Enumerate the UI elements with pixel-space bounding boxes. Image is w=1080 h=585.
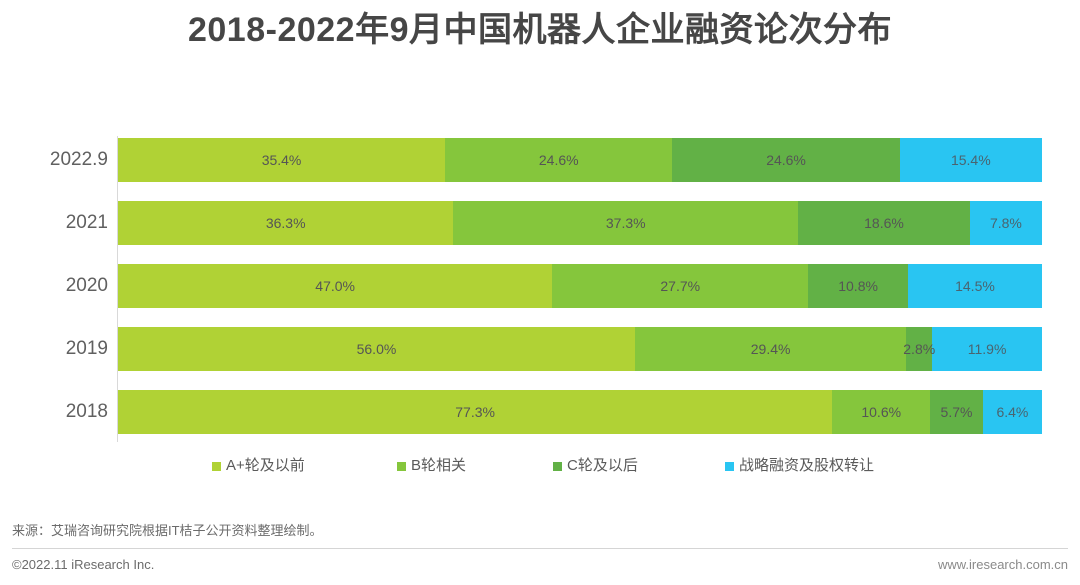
bar-row: 201956.0%29.4%2.8%11.9%	[0, 327, 1080, 371]
bar-segment-value-label: 24.6%	[539, 152, 579, 168]
bar-segment-value-label: 10.8%	[838, 278, 878, 294]
legend-item[interactable]: 战略融资及股权转让	[725, 452, 874, 480]
legend-item[interactable]: A+轮及以前	[212, 452, 305, 480]
bar-segment-value-label: 10.6%	[861, 404, 901, 420]
chart-title-container: 2018-2022年9月中国机器人企业融资论次分布	[0, 8, 1080, 52]
page-title: 2018-2022年9月中国机器人企业融资论次分布	[0, 8, 1080, 52]
bar-segment[interactable]: 14.5%	[908, 264, 1042, 308]
stacked-bar[interactable]: 36.3%37.3%18.6%7.8%	[118, 201, 1042, 245]
bar-segment[interactable]: 37.3%	[453, 201, 798, 245]
bar-segment[interactable]: 35.4%	[118, 138, 445, 182]
bar-segment-value-label: 24.6%	[766, 152, 806, 168]
bar-segment-value-label: 2.8%	[903, 341, 935, 357]
footer-divider	[12, 548, 1068, 549]
bar-segment-value-label: 14.5%	[955, 278, 995, 294]
bar-segment[interactable]: 56.0%	[118, 327, 635, 371]
y-axis-category-label: 2022.9	[0, 138, 108, 182]
legend-swatch-icon	[212, 462, 221, 471]
bar-row: 202136.3%37.3%18.6%7.8%	[0, 201, 1080, 245]
bar-segment[interactable]: 47.0%	[118, 264, 552, 308]
legend-swatch-icon	[725, 462, 734, 471]
bar-row: 201877.3%10.6%5.7%6.4%	[0, 390, 1080, 434]
stacked-bar[interactable]: 77.3%10.6%5.7%6.4%	[118, 390, 1042, 434]
bar-segment-value-label: 5.7%	[941, 404, 973, 420]
source-note: 来源：艾瑞咨询研究院根据IT桔子公开资料整理绘制。	[12, 520, 323, 539]
bar-segment-value-label: 11.9%	[968, 341, 1007, 357]
bar-segment-value-label: 35.4%	[262, 152, 302, 168]
bar-segment[interactable]: 11.9%	[932, 327, 1042, 371]
bar-segment[interactable]: 6.4%	[983, 390, 1042, 434]
stacked-bar[interactable]: 35.4%24.6%24.6%15.4%	[118, 138, 1042, 182]
bar-segment-value-label: 15.4%	[951, 152, 991, 168]
bar-segment[interactable]: 15.4%	[900, 138, 1042, 182]
bar-segment[interactable]: 27.7%	[552, 264, 808, 308]
y-axis-category-label: 2019	[0, 327, 108, 371]
legend-item[interactable]: B轮相关	[397, 452, 466, 480]
legend-item-label: 战略融资及股权转让	[739, 452, 874, 480]
stacked-bar[interactable]: 56.0%29.4%2.8%11.9%	[118, 327, 1042, 371]
bar-segment[interactable]: 7.8%	[970, 201, 1042, 245]
legend-item[interactable]: C轮及以后	[553, 452, 638, 480]
bar-segment[interactable]: 18.6%	[798, 201, 970, 245]
y-axis-category-label: 2020	[0, 264, 108, 308]
bar-segment-value-label: 7.8%	[990, 215, 1022, 231]
bar-row: 202047.0%27.7%10.8%14.5%	[0, 264, 1080, 308]
bar-segment-value-label: 18.6%	[864, 215, 904, 231]
bar-segment-value-label: 27.7%	[660, 278, 700, 294]
bar-row: 2022.935.4%24.6%24.6%15.4%	[0, 138, 1080, 182]
legend-item-label: B轮相关	[411, 452, 466, 480]
bar-segment[interactable]: 5.7%	[930, 390, 983, 434]
bar-segment-value-label: 6.4%	[996, 404, 1028, 420]
chart-legend: A+轮及以前B轮相关C轮及以后战略融资及股权转让	[0, 452, 1080, 480]
bar-segment-value-label: 37.3%	[606, 215, 646, 231]
bar-segment[interactable]: 29.4%	[635, 327, 906, 371]
legend-item-label: C轮及以后	[567, 452, 638, 480]
y-axis-category-label: 2021	[0, 201, 108, 245]
bar-segment[interactable]: 24.6%	[672, 138, 899, 182]
chart-plot-area: 2022.935.4%24.6%24.6%15.4%202136.3%37.3%…	[0, 130, 1080, 448]
bar-segment-value-label: 29.4%	[751, 341, 791, 357]
bar-rows-container: 2022.935.4%24.6%24.6%15.4%202136.3%37.3%…	[0, 130, 1080, 448]
website-url: www.iresearch.com.cn	[938, 557, 1068, 572]
bar-segment[interactable]: 2.8%	[906, 327, 932, 371]
bar-segment[interactable]: 24.6%	[445, 138, 672, 182]
legend-item-label: A+轮及以前	[226, 452, 305, 480]
copyright-text: ©2022.11 iResearch Inc.	[12, 557, 154, 572]
legend-swatch-icon	[553, 462, 562, 471]
bar-segment-value-label: 36.3%	[266, 215, 306, 231]
bar-segment-value-label: 56.0%	[357, 341, 397, 357]
stacked-bar[interactable]: 47.0%27.7%10.8%14.5%	[118, 264, 1042, 308]
bar-segment[interactable]: 77.3%	[118, 390, 832, 434]
bar-segment[interactable]: 10.6%	[832, 390, 930, 434]
legend-swatch-icon	[397, 462, 406, 471]
bar-segment-value-label: 77.3%	[455, 404, 495, 420]
bar-segment-value-label: 47.0%	[315, 278, 355, 294]
bar-segment[interactable]: 10.8%	[808, 264, 908, 308]
bar-segment[interactable]: 36.3%	[118, 201, 453, 245]
y-axis-category-label: 2018	[0, 390, 108, 434]
